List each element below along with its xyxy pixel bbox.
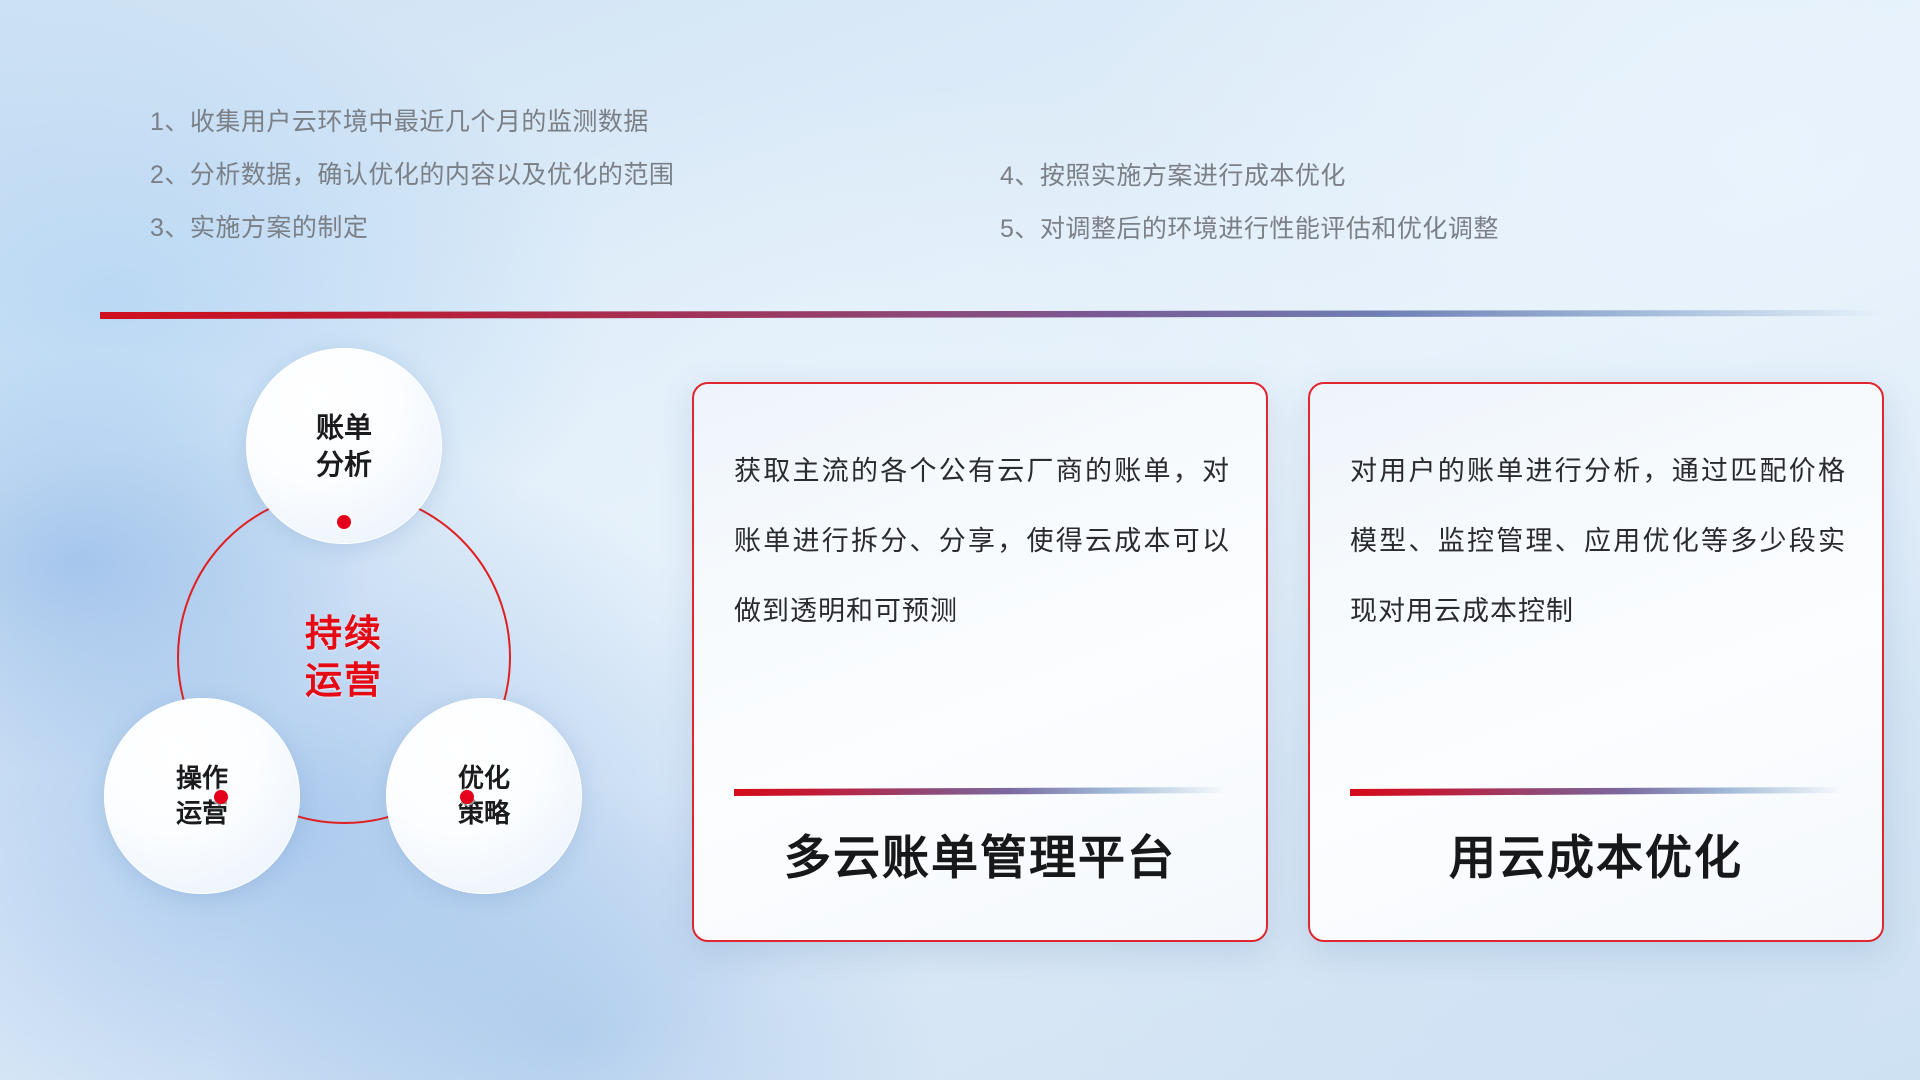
venn-diagram: 账单 分析 操作 运营 优化 策略 持续 运营 — [96, 340, 656, 960]
steps-right-column: 4、按照实施方案进行成本优化 5、对调整后的环境进行性能评估和优化调整 — [1000, 150, 1499, 256]
venn-label-top-line2: 分析 — [316, 446, 372, 483]
slide-canvas: 1、收集用户云环境中最近几个月的监测数据 2、分析数据，确认优化的内容以及优化的… — [0, 0, 1920, 1080]
venn-label-top-line1: 账单 — [316, 409, 372, 446]
card-multicloud-billing[interactable]: 获取主流的各个公有云厂商的账单，对账单进行拆分、分享，使得云成本可以做到透明和可… — [692, 382, 1268, 942]
card-2-body: 对用户的账单进行分析，通过匹配价格模型、监控管理、应用优化等多少段实现对用云成本… — [1350, 436, 1846, 646]
venn-node-bottom-right-dot — [460, 790, 474, 804]
step-item-1: 1、收集用户云环境中最近几个月的监测数据 — [150, 96, 674, 149]
venn-node-bottom-left-dot — [214, 790, 228, 804]
section-divider — [100, 310, 1882, 319]
card-2-title: 用云成本优化 — [1310, 819, 1882, 888]
card-1-title: 多云账单管理平台 — [694, 819, 1266, 888]
step-item-3: 3、实施方案的制定 — [150, 202, 674, 255]
center-label-line2: 运营 — [305, 657, 383, 704]
step-item-5: 5、对调整后的环境进行性能评估和优化调整 — [1000, 203, 1499, 256]
card-1-body: 获取主流的各个公有云厂商的账单，对账单进行拆分、分享，使得云成本可以做到透明和可… — [734, 436, 1230, 646]
step-item-2: 2、分析数据，确认优化的内容以及优化的范围 — [150, 149, 674, 202]
center-ring-label: 持续 运营 — [177, 490, 511, 824]
steps-left-column: 1、收集用户云环境中最近几个月的监测数据 2、分析数据，确认优化的内容以及优化的… — [150, 96, 674, 255]
step-item-4: 4、按照实施方案进行成本优化 — [1000, 150, 1499, 203]
card-1-rule — [734, 787, 1226, 796]
card-2-rule — [1350, 787, 1842, 796]
center-label-line1: 持续 — [305, 610, 383, 657]
venn-node-top-dot — [337, 515, 351, 529]
card-cloud-cost-optimization[interactable]: 对用户的账单进行分析，通过匹配价格模型、监控管理、应用优化等多少段实现对用云成本… — [1308, 382, 1884, 942]
